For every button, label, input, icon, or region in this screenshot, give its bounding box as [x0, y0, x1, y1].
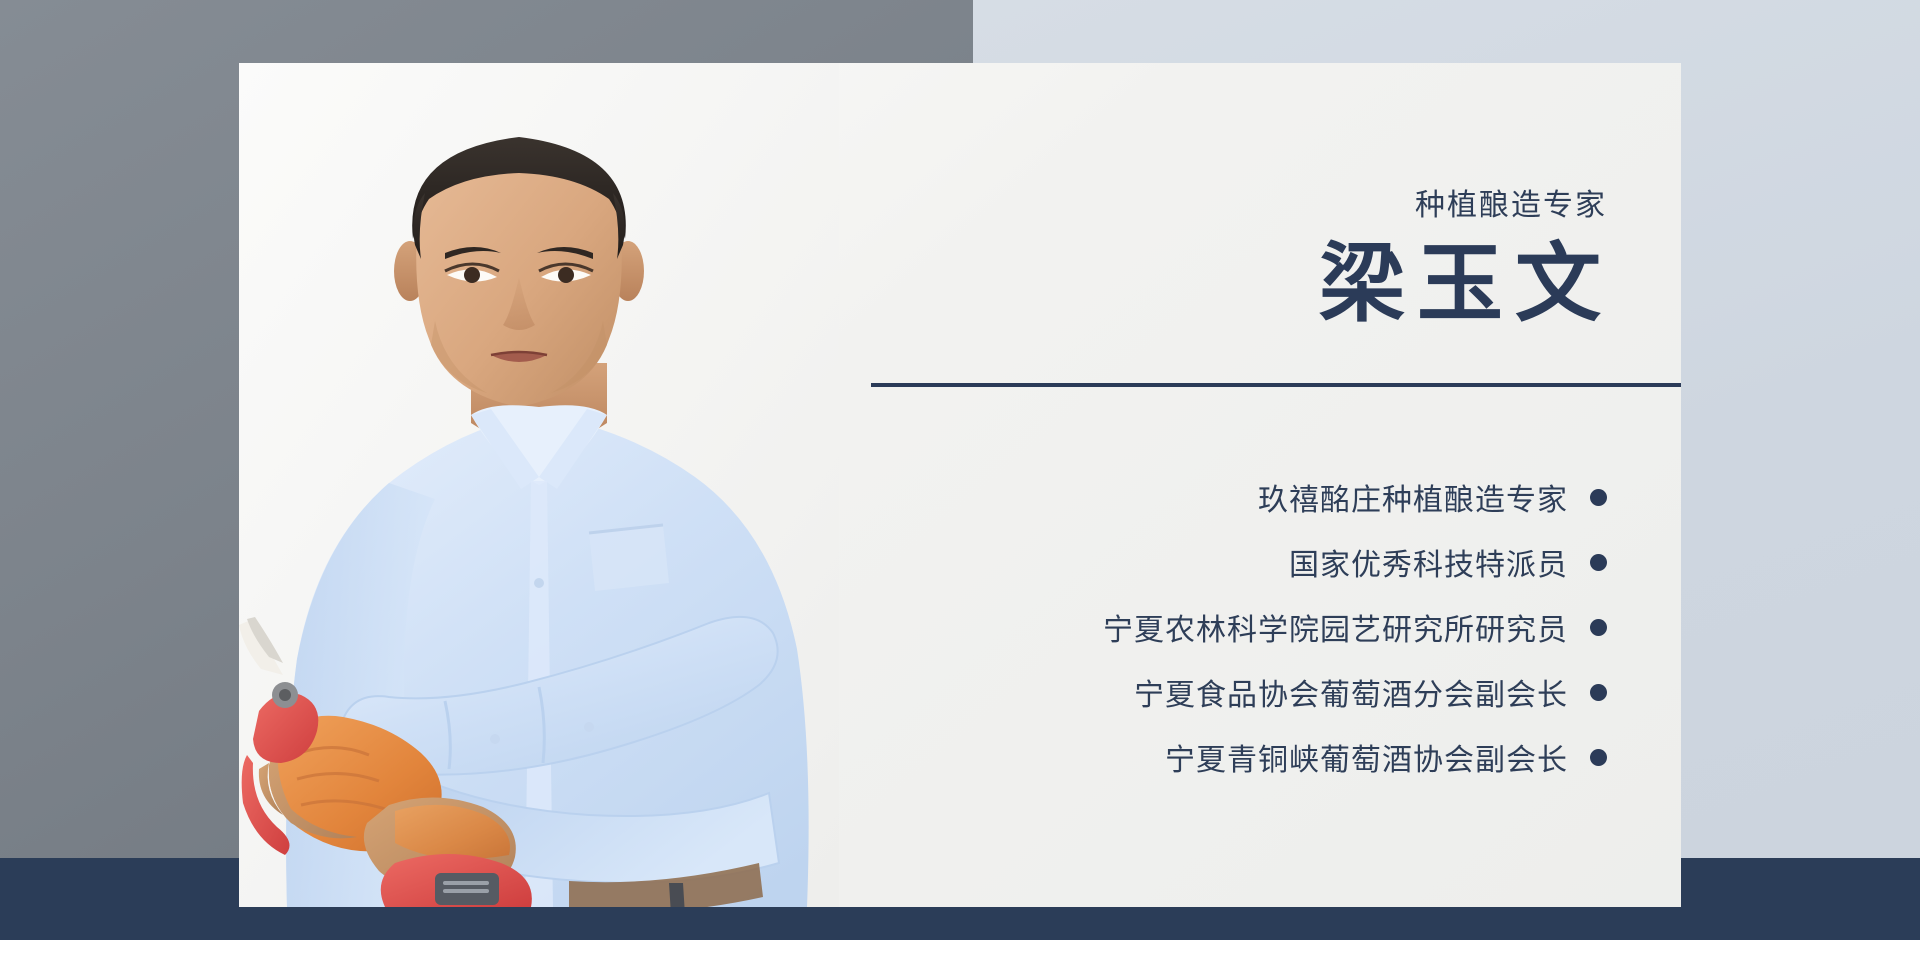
list-item: 宁夏农林科学院园艺研究所研究员	[967, 600, 1607, 654]
credential-label: 宁夏食品协会葡萄酒分会副会长	[1134, 670, 1568, 714]
credential-label: 国家优秀科技特派员	[1289, 540, 1568, 584]
bullet-dot-icon	[1590, 554, 1607, 571]
list-item: 玖禧酩庄种植酿造专家	[967, 470, 1607, 524]
credential-label: 宁夏农林科学院园艺研究所研究员	[1103, 605, 1568, 649]
list-item: 宁夏食品协会葡萄酒分会副会长	[967, 665, 1607, 719]
portrait-photo	[239, 63, 839, 907]
bullet-dot-icon	[1590, 749, 1607, 766]
bullet-dot-icon	[1590, 489, 1607, 506]
expert-subtitle: 种植酿造专家	[1415, 191, 1607, 221]
list-item: 国家优秀科技特派员	[967, 535, 1607, 589]
profile-text-column: 种植酿造专家 梁玉文 玖禧酩庄种植酿造专家 国家优秀科技特派员 宁夏农林科学院园…	[939, 63, 1681, 907]
expert-name: 梁玉文	[1307, 239, 1613, 329]
credential-label: 宁夏青铜峡葡萄酒协会副会长	[1165, 735, 1568, 779]
poster-canvas: 种植酿造专家 梁玉文 玖禧酩庄种植酿造专家 国家优秀科技特派员 宁夏农林科学院园…	[0, 0, 1920, 970]
bullet-dot-icon	[1590, 684, 1607, 701]
credential-label: 玖禧酩庄种植酿造专家	[1258, 475, 1568, 519]
credentials-list: 玖禧酩庄种植酿造专家 国家优秀科技特派员 宁夏农林科学院园艺研究所研究员 宁夏食…	[967, 470, 1607, 795]
background-band-white	[0, 940, 1920, 970]
bullet-dot-icon	[1590, 619, 1607, 636]
divider-line	[871, 383, 1681, 387]
list-item: 宁夏青铜峡葡萄酒协会副会长	[967, 730, 1607, 784]
profile-card: 种植酿造专家 梁玉文 玖禧酩庄种植酿造专家 国家优秀科技特派员 宁夏农林科学院园…	[239, 63, 1681, 907]
